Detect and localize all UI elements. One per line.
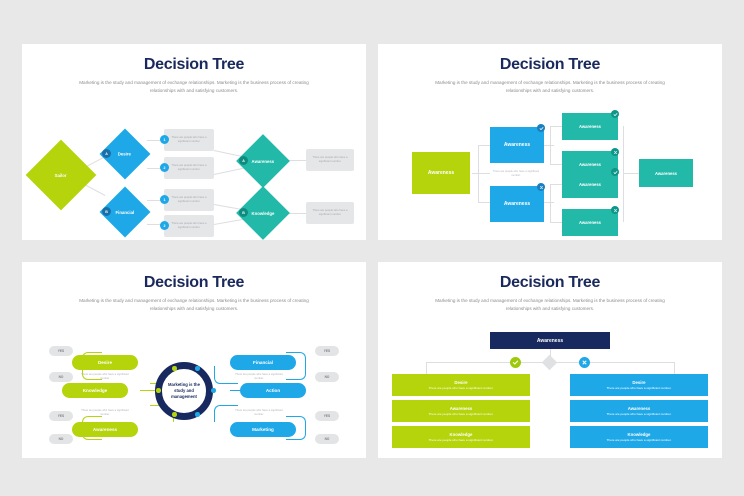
slide4-left-bar-3[interactable]: Knowledge There are people who have a si…: [392, 426, 530, 448]
decision-diamond-icon: [542, 355, 558, 371]
slide4-left-bar-2[interactable]: Awareness There are people who have a si…: [392, 400, 530, 422]
slide2-root-node[interactable]: Awareness: [412, 152, 470, 194]
slide3-right-1-no[interactable]: NO: [315, 372, 339, 382]
page-title: Decision Tree: [22, 262, 366, 292]
page-title: Decision Tree: [378, 262, 722, 292]
anchor-dot: [156, 388, 161, 393]
connector-line: [674, 362, 675, 374]
slide2-final-node[interactable]: Awareness: [639, 159, 693, 187]
bar-title: Desire: [632, 380, 645, 385]
page-subtitle: Marketing is the study and management of…: [433, 297, 668, 312]
slide2-leaf-1[interactable]: Awareness: [562, 113, 618, 140]
bar-text: There are people who have a significant …: [429, 386, 494, 390]
slide3-left-3-no[interactable]: NO: [49, 434, 73, 444]
slide3-right-3-no[interactable]: NO: [315, 434, 339, 444]
slide3-right-node-financial[interactable]: Financial: [230, 355, 296, 370]
slide3-left-node-awareness[interactable]: Awareness: [72, 422, 138, 437]
slide1-root-node[interactable]: Sailor: [26, 140, 97, 211]
anchor-dot: [172, 366, 177, 371]
bar-text: There are people who have a significant …: [607, 386, 672, 390]
bar-text: There are people who have a significant …: [429, 412, 494, 416]
slide1-leaf-a2[interactable]: There are people who have a significant …: [164, 157, 214, 179]
slide3-left-1-yes[interactable]: YES: [49, 346, 73, 356]
connector-line: [544, 145, 554, 146]
page-subtitle: Marketing is the study and management of…: [433, 79, 668, 94]
slide3-right-1-note: There are people who have a significant …: [232, 373, 286, 381]
page-subtitle: Marketing is the study and management of…: [77, 79, 312, 94]
slide-grid: Decision Tree Marketing is the study and…: [0, 0, 744, 496]
slide3-right-node-action[interactable]: Action: [240, 383, 306, 398]
slide3-left-1-note: There are people who have a significant …: [78, 373, 132, 381]
bar-title: Awareness: [628, 406, 651, 411]
check-icon[interactable]: [510, 357, 521, 368]
slide4-right-bar-2[interactable]: Awareness There are people who have a si…: [570, 400, 708, 422]
connector-line: [550, 126, 562, 127]
close-icon[interactable]: [579, 357, 590, 368]
slide2-mid-node-2[interactable]: Awareness: [490, 186, 544, 222]
connector-line: [544, 202, 554, 203]
connector-line: [550, 164, 562, 165]
slide4-right-bar-1[interactable]: Desire There are people who have a signi…: [570, 374, 708, 396]
slide3-right-3-note: There are people who have a significant …: [232, 409, 286, 417]
connector-line: [478, 145, 479, 202]
slide1-result-b-note[interactable]: There are people who have a significant …: [306, 202, 354, 224]
bar-text: There are people who have a significant …: [607, 412, 672, 416]
slide1-leaf-b2[interactable]: There are people who have a significant …: [164, 215, 214, 237]
slide3-right-node-marketing[interactable]: Marketing: [230, 422, 296, 437]
slide4-right-bar-3[interactable]: Knowledge There are people who have a si…: [570, 426, 708, 448]
slide3-canvas: Marketing is the study and management YE…: [22, 312, 366, 450]
bar-text: There are people who have a significant …: [607, 438, 672, 442]
connector-line: [472, 173, 490, 174]
bar-title: Desire: [454, 380, 467, 385]
slide-bar-decision-tree[interactable]: Decision Tree Marketing is the study and…: [378, 262, 722, 458]
slide2-leaf-3[interactable]: Awareness: [562, 171, 618, 198]
slide-radial-decision-tree[interactable]: Decision Tree Marketing is the study and…: [22, 262, 366, 458]
slide2-mid-node-1[interactable]: Awareness: [490, 127, 544, 163]
bar-title: Awareness: [450, 406, 473, 411]
page-subtitle: Marketing is the study and management of…: [77, 297, 312, 312]
connector-line: [550, 222, 562, 223]
slide2-leaf-4[interactable]: Awareness: [562, 209, 618, 236]
anchor-dot: [211, 388, 216, 393]
connector-line: [214, 150, 243, 157]
slide3-left-1-no[interactable]: NO: [49, 372, 73, 382]
anchor-dot: [172, 412, 177, 417]
slide1-canvas: Sailor Desire A There are people who hav…: [22, 94, 366, 232]
slide3-left-3-note: There are people who have a significant …: [78, 409, 132, 417]
connector-line: [426, 362, 427, 374]
slide3-right-3-yes[interactable]: YES: [315, 411, 339, 421]
slide3-right-1-yes[interactable]: YES: [315, 346, 339, 356]
slide-rectangle-decision-tree[interactable]: Decision Tree Marketing is the study and…: [378, 44, 722, 240]
connector-line: [214, 168, 243, 175]
slide4-left-bar-1[interactable]: Desire There are people who have a signi…: [392, 374, 530, 396]
connector-line: [550, 184, 551, 222]
slide1-leaf-a1[interactable]: There are people who have a significant …: [164, 129, 214, 151]
slide4-header-node[interactable]: Awareness: [490, 332, 610, 349]
bar-text: There are people who have a significant …: [429, 438, 494, 442]
connector-line: [478, 145, 490, 146]
connector-line: [623, 126, 624, 222]
slide4-canvas: Awareness Desire There are people who ha…: [378, 312, 722, 450]
connector-line: [214, 219, 244, 225]
slide3-left-node-desire[interactable]: Desire: [72, 355, 138, 370]
page-title: Decision Tree: [22, 44, 366, 74]
slide3-left-3-yes[interactable]: YES: [49, 411, 73, 421]
slide1-leaf-b1[interactable]: There are people who have a significant …: [164, 189, 214, 211]
anchor-dot: [195, 366, 200, 371]
slide2-center-note: There are people who have a significant …: [490, 170, 542, 178]
anchor-dot: [195, 412, 200, 417]
bar-title: Knowledge: [450, 432, 473, 437]
connector-line: [478, 202, 490, 203]
slide3-left-node-knowledge[interactable]: Knowledge: [62, 383, 128, 398]
page-title: Decision Tree: [378, 44, 722, 74]
bar-title: Knowledge: [628, 432, 651, 437]
slide2-canvas: Awareness Awareness There are people who…: [378, 94, 722, 232]
slide3-center-node[interactable]: Marketing is the study and management: [155, 362, 213, 420]
slide-diamond-decision-tree[interactable]: Decision Tree Marketing is the study and…: [22, 44, 366, 240]
connector-line: [550, 184, 562, 185]
connector-line: [623, 173, 639, 174]
slide1-result-a-note[interactable]: There are people who have a significant …: [306, 149, 354, 171]
